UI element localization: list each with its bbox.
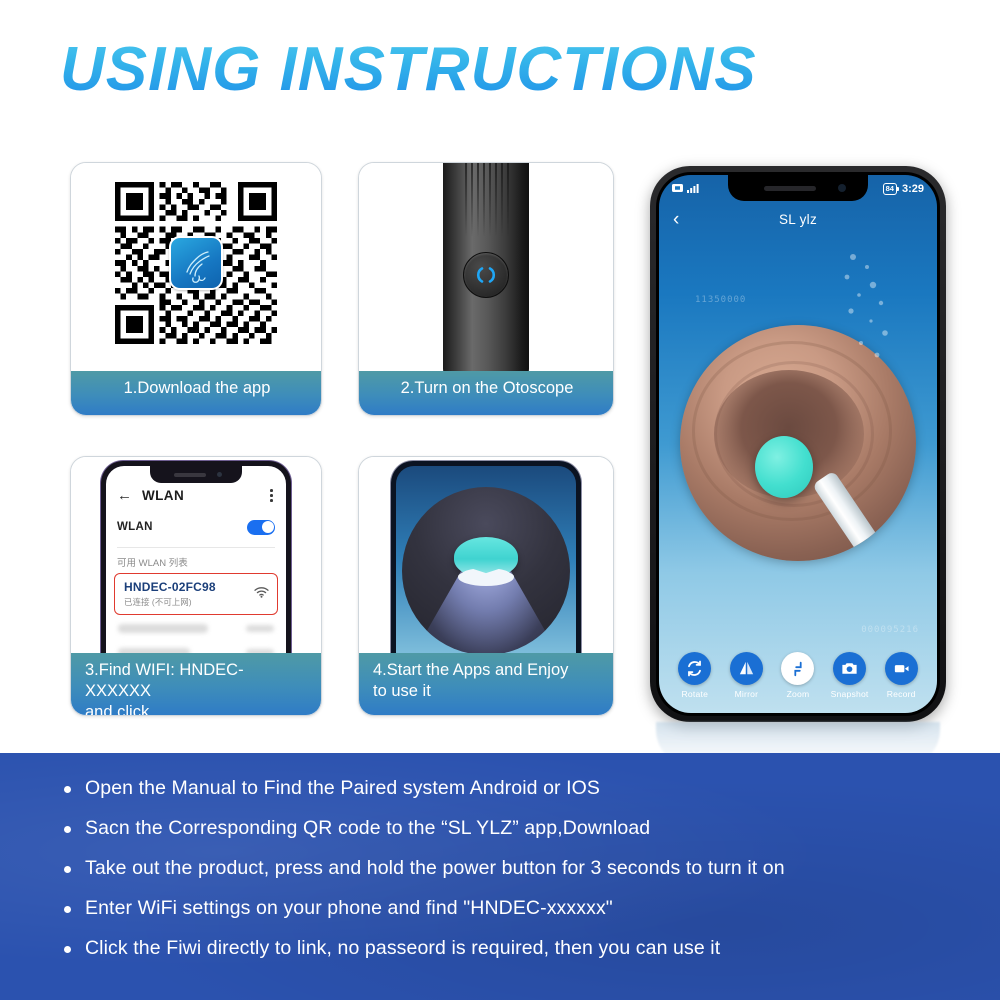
toolbar-button-snapshot[interactable]: Snapshot (824, 652, 876, 699)
toolbar-label: Snapshot (831, 689, 869, 699)
wlan-header-title: WLAN (142, 488, 184, 503)
phone-screen: 84 3:29 ‹ SL ylz 11350000 000095216 (659, 175, 937, 713)
toolbar-label: Zoom (787, 689, 810, 699)
bullet-text: Sacn the Corresponding QR code to the “S… (85, 817, 650, 840)
otoscope-ribs (463, 163, 509, 237)
chevron-left-icon[interactable]: ‹ (673, 210, 679, 229)
clock: 3:29 (902, 183, 924, 195)
wlan-status: 已连接 (不可上网) (124, 596, 216, 608)
front-camera (217, 472, 222, 477)
mini-phone-frame: ← WLAN WLAN 可用 WLAN 列表 HNDEC-02FC98 已连接 … (101, 461, 291, 675)
step-card-start-app: 4.Start the Apps and Enjoy to use it (358, 456, 614, 716)
earpiece-speaker (174, 473, 206, 477)
page-title: USING INSTRUCTIONS (60, 34, 757, 105)
phone-mockup: 84 3:29 ‹ SL ylz 11350000 000095216 (650, 166, 946, 722)
wlan-toggle-label: WLAN (117, 521, 153, 533)
battery-indicator: 84 (883, 183, 897, 195)
probe-tip (755, 436, 813, 498)
app-logo-icon (169, 236, 223, 290)
mini-phone-frame (391, 461, 581, 675)
card-caption: 2.Turn on the Otoscope (359, 371, 613, 415)
otoscope-body (443, 163, 529, 379)
toolbar-button-rotate[interactable]: Rotate (669, 652, 721, 699)
signal-bars-icon (687, 183, 700, 196)
list-item: Click the Fiwi directly to link, no pass… (64, 937, 956, 960)
bullet-dot-icon (64, 906, 71, 913)
bullet-dot-icon (64, 946, 71, 953)
phone-notch (728, 175, 868, 201)
front-camera (838, 184, 846, 192)
card-caption: 1.Download the app (71, 371, 321, 415)
wlan-toggle-switch[interactable] (247, 520, 275, 535)
silicone-tip (454, 537, 518, 577)
bullet-list: Open the Manual to Find the Paired syste… (0, 753, 1000, 960)
bullet-dot-icon (64, 866, 71, 873)
mobile-data-icon (672, 183, 684, 196)
toolbar-label: Mirror (735, 689, 759, 699)
toolbar-label: Rotate (682, 689, 709, 699)
app-toolbar: Rotate Mirror (659, 652, 937, 699)
footer-instructions: Open the Manual to Find the Paired syste… (0, 753, 1000, 1000)
bullet-dot-icon (64, 786, 71, 793)
card-caption-line2: to use it (373, 681, 601, 702)
wlan-network-row[interactable]: HNDEC-02FC98 已连接 (不可上网) (114, 573, 278, 615)
otoscope-view (396, 466, 576, 675)
watermark-top: 11350000 (695, 295, 746, 305)
bullet-text: Enter WiFi settings on your phone and fi… (85, 897, 613, 920)
power-ring-icon (473, 262, 499, 288)
video-icon (885, 652, 918, 685)
card-caption: 4.Start the Apps and Enjoy to use it (359, 653, 613, 715)
wlan-section-label: 可用 WLAN 列表 (106, 548, 286, 573)
card-caption: 3.Find WIFI: HNDEC-XXXXXX and click (71, 653, 321, 715)
bullet-text: Click the Fiwi directly to link, no pass… (85, 937, 720, 960)
card-caption-line2: and click (85, 702, 309, 716)
watermark-bottom: 000095216 (861, 625, 919, 635)
list-item: Open the Manual to Find the Paired syste… (64, 777, 956, 800)
rotate-icon (678, 652, 711, 685)
app-header: ‹ SL ylz (659, 205, 937, 233)
wlan-settings-screen: ← WLAN WLAN 可用 WLAN 列表 HNDEC-02FC98 已连接 … (106, 466, 286, 675)
camera-icon (833, 652, 866, 685)
qr-code[interactable] (115, 182, 277, 344)
wlan-ssid: HNDEC-02FC98 (124, 580, 216, 594)
wlan-toggle-row[interactable]: WLAN (106, 514, 286, 540)
overflow-menu-icon[interactable] (270, 489, 275, 501)
earpiece-speaker (764, 186, 816, 191)
list-item: Enter WiFi settings on your phone and fi… (64, 897, 956, 920)
instruction-poster: USING INSTRUCTIONS (0, 0, 1000, 1000)
power-button[interactable] (463, 252, 509, 298)
otoscope-live-screen (396, 466, 576, 675)
bullet-text: Take out the product, press and hold the… (85, 857, 785, 880)
toolbar-button-mirror[interactable]: Mirror (721, 652, 773, 699)
toolbar-button-record[interactable]: Record (875, 652, 927, 699)
step-card-find-wifi: ← WLAN WLAN 可用 WLAN 列表 HNDEC-02FC98 已连接 … (70, 456, 322, 716)
list-item: Take out the product, press and hold the… (64, 857, 956, 880)
bubbles-decoration (833, 247, 903, 372)
mirror-icon (730, 652, 763, 685)
wifi-icon (254, 585, 269, 603)
bullet-text: Open the Manual to Find the Paired syste… (85, 777, 600, 800)
phone-notch (150, 466, 242, 483)
toolbar-label: Record (887, 689, 916, 699)
otoscope-scope-circle (402, 487, 570, 655)
blurred-network-row (118, 624, 274, 632)
zoom-crop-icon (781, 652, 814, 685)
list-item: Sacn the Corresponding QR code to the “S… (64, 817, 956, 840)
step-card-download-app: 1.Download the app (70, 162, 322, 416)
card-caption-line1: 3.Find WIFI: HNDEC-XXXXXX (85, 660, 309, 702)
back-arrow-icon[interactable]: ← (117, 488, 132, 503)
toolbar-button-zoom[interactable]: Zoom (772, 652, 824, 699)
card-caption-line1: 4.Start the Apps and Enjoy (373, 660, 601, 681)
app-title: SL ylz (659, 212, 937, 227)
bullet-dot-icon (64, 826, 71, 833)
step-card-turn-on-otoscope: 2.Turn on the Otoscope (358, 162, 614, 416)
